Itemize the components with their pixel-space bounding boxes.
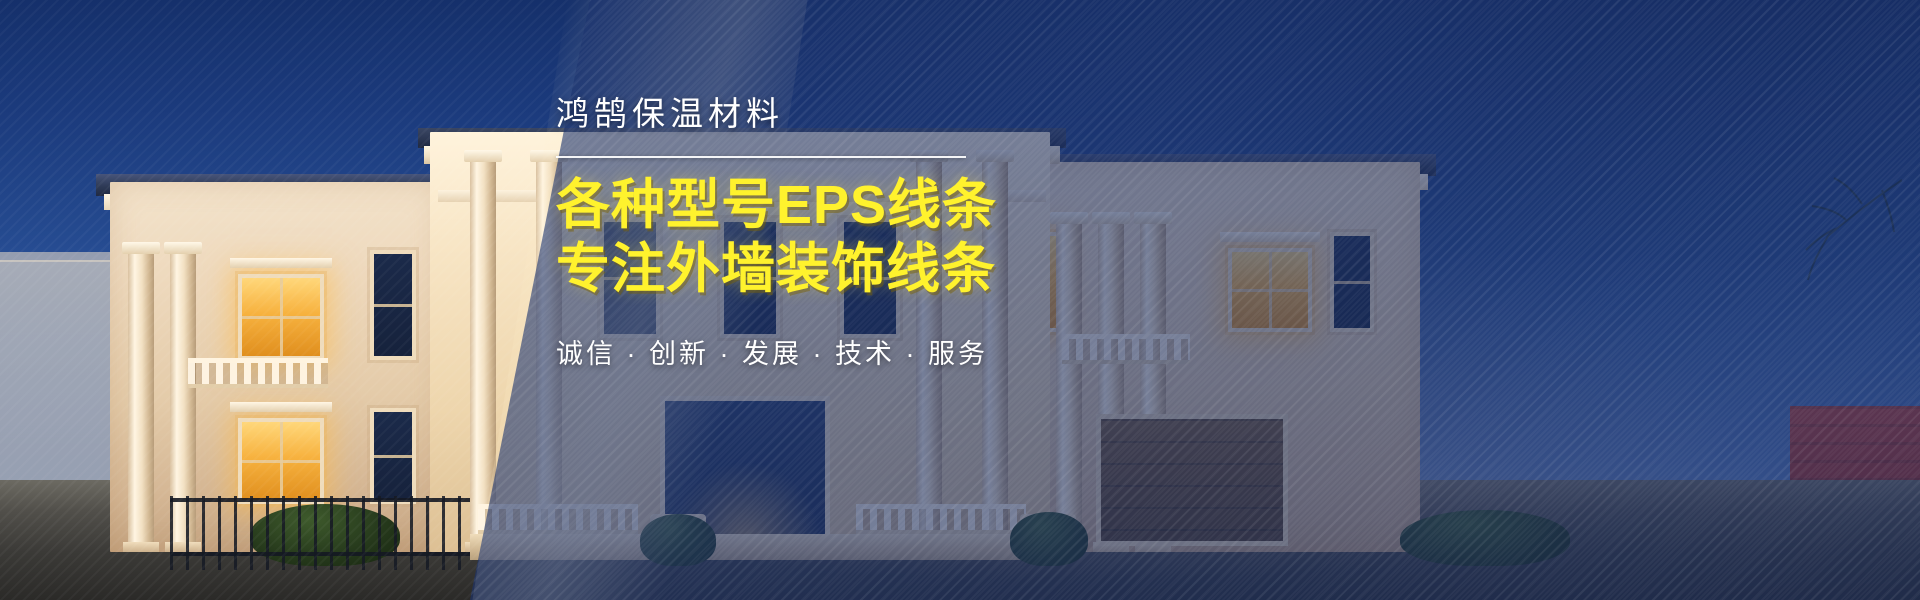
balustrade — [478, 504, 638, 534]
tree-branch — [1742, 170, 1902, 350]
column — [128, 252, 154, 552]
brand-name: 鸿鹄保温材料 — [556, 96, 1456, 132]
background-building-left-roof — [0, 252, 126, 262]
window-lit — [238, 418, 324, 504]
headline: 各种型号EPS线条 专注外墙装饰线条 — [556, 174, 1456, 301]
shrub — [1010, 512, 1088, 566]
shrub — [1400, 510, 1570, 566]
terrace-step — [470, 534, 1030, 560]
fence-rail — [170, 498, 470, 502]
headline-line-1: 各种型号EPS线条 — [556, 174, 1456, 238]
shrub — [640, 514, 716, 566]
hero-banner: 鸿鹄保温材料 各种型号EPS线条 专注外墙装饰线条 诚信 · 创新 · 发展 ·… — [0, 0, 1920, 600]
divider-rule — [556, 156, 966, 158]
iron-fence — [170, 496, 470, 570]
column — [470, 160, 496, 552]
headline-line-2: 专注外墙装饰线条 — [556, 238, 1456, 302]
tagline: 诚信 · 创新 · 发展 · 技术 · 服务 — [556, 332, 1456, 371]
fence-rail — [170, 552, 470, 556]
window-pediment — [230, 258, 332, 268]
balustrade — [856, 504, 1026, 534]
window-lit — [238, 274, 324, 360]
banner-copy: 鸿鹄保温材料 各种型号EPS线条 专注外墙装饰线条 诚信 · 创新 · 发展 ·… — [556, 96, 1456, 371]
window-dark — [370, 408, 416, 504]
balustrade — [188, 358, 328, 388]
window-pediment — [230, 402, 332, 412]
window-dark — [370, 250, 416, 360]
garage-door — [1096, 414, 1288, 546]
